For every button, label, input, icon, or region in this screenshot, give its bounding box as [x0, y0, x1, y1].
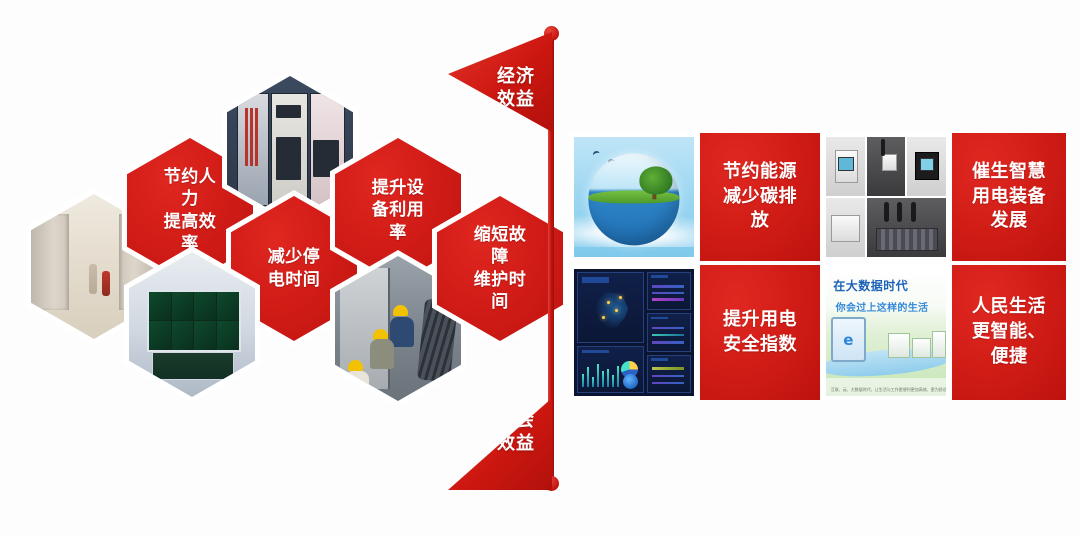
operator-desk	[152, 352, 235, 380]
poster-building	[932, 331, 946, 358]
worker-figure	[345, 371, 369, 401]
tile-text-safety-index[interactable]: 提升用电 安全指数	[700, 265, 820, 400]
control-room-image	[129, 252, 255, 397]
earth-sphere	[588, 154, 679, 245]
hex-label-reduce-outage: 减少停 电时间	[256, 246, 333, 290]
hard-hat-icon	[373, 329, 388, 340]
flag-economic-benefits[interactable]: 经济 效益	[448, 32, 552, 132]
tile-photo-bigdata-poster[interactable]: 在大数据时代 你会过上这样的生活 e 互联、云、大数据时代，让生活与工作更便利更…	[822, 265, 950, 400]
hex-label-equipment-utilization: 提升设 备利用 率	[360, 177, 437, 243]
infographic-canvas: 节约人 力 提高效 率	[0, 0, 1080, 537]
map-marker	[602, 316, 605, 319]
data-row	[652, 334, 684, 337]
worker-figure	[370, 339, 394, 369]
flag-label-economic: 经济 效益	[497, 65, 535, 111]
hex-label-shorten-maintenance: 缩短故 障 维护时 间	[462, 224, 539, 312]
worker-figure	[390, 317, 414, 347]
cable	[897, 202, 902, 222]
bar-chart	[582, 359, 619, 386]
tile-label-smart-equipment: 催生智慧 用电装备 发展	[962, 160, 1056, 234]
equipment-photo-cell	[907, 137, 946, 196]
tile-label-save-energy: 节约能源 减少碳排 放	[713, 160, 807, 234]
pie-chart	[623, 374, 639, 390]
data-row	[652, 375, 684, 378]
cabinet-wire	[250, 108, 253, 166]
big-data-dashboard-image	[574, 269, 694, 396]
flag-social-benefits[interactable]: 社会 效益	[448, 398, 552, 490]
dashboard-bars-card	[577, 346, 644, 393]
poster-headline: 在大数据时代	[833, 277, 908, 294]
poster-building	[888, 333, 909, 358]
flag-label-social: 社会 效益	[497, 409, 535, 455]
smart-power-equipment-collage-image	[826, 137, 946, 257]
poster-footnote: 互联、云、大数据时代，让生活与工作更便利更加高效、更为舒适、更加便捷。	[831, 387, 946, 393]
equipment-photo-cell	[867, 137, 906, 196]
tile-text-smart-equipment[interactable]: 催生智慧 用电装备 发展	[952, 133, 1066, 261]
hard-hat-icon	[393, 305, 408, 316]
eco-globe-image	[574, 137, 694, 257]
tile-photo-eco-globe[interactable]	[570, 133, 698, 261]
display-screen	[838, 157, 853, 171]
china-map	[590, 285, 634, 335]
data-row	[652, 341, 684, 344]
tile-text-smart-life[interactable]: 人民生活 更智能、 便捷	[952, 265, 1066, 400]
data-row	[652, 382, 684, 385]
cable	[884, 202, 889, 222]
tile-photo-equipment-collage[interactable]	[822, 133, 950, 261]
tile-label-safety-index: 提升用电 安全指数	[713, 308, 807, 358]
dashboard-list-card	[647, 313, 691, 351]
data-row	[652, 327, 684, 330]
battery-bank	[876, 228, 938, 251]
equipment-photo-cell	[826, 198, 865, 257]
cabinet-wire	[245, 108, 248, 166]
worker-figure	[102, 271, 110, 296]
map-marker	[607, 301, 610, 304]
grass-layer	[588, 190, 679, 203]
monitor-wall	[147, 290, 242, 352]
data-row	[652, 298, 684, 301]
worker-figure	[89, 264, 97, 294]
data-row	[652, 367, 684, 370]
equipment-photo-cell	[826, 137, 865, 196]
tile-photo-dashboard[interactable]	[570, 265, 698, 400]
poster-monitor-icon: e	[831, 317, 866, 362]
data-row	[652, 292, 684, 295]
hard-hat-icon	[348, 360, 363, 371]
data-row	[652, 285, 684, 288]
tree-icon	[639, 167, 672, 194]
cabinet-wire	[255, 108, 258, 166]
bird-icon	[592, 150, 601, 159]
tile-label-smart-life: 人民生活 更智能、 便捷	[962, 295, 1056, 369]
control-box	[831, 215, 859, 243]
poster-building	[912, 338, 931, 358]
display-screen	[920, 158, 934, 171]
cable	[911, 202, 916, 222]
cabinet-column	[237, 93, 269, 205]
cabinet-panel	[276, 105, 301, 118]
dashboard-map-card	[577, 272, 644, 343]
control-box	[882, 154, 897, 171]
map-marker	[615, 309, 618, 312]
equipment-photo-cell	[867, 198, 946, 257]
cable	[881, 139, 885, 156]
tile-text-save-energy[interactable]: 节约能源 减少碳排 放	[700, 133, 820, 261]
dashboard-list-card	[647, 272, 691, 310]
big-data-era-poster-image: 在大数据时代 你会过上这样的生活 e 互联、云、大数据时代，让生活与工作更便利更…	[826, 269, 946, 396]
dashboard-list-card	[647, 355, 691, 393]
hex-label-save-manpower: 节约人 力 提高效 率	[152, 166, 229, 254]
cabinet-breakers	[276, 137, 301, 181]
control-room-photo	[129, 252, 255, 397]
